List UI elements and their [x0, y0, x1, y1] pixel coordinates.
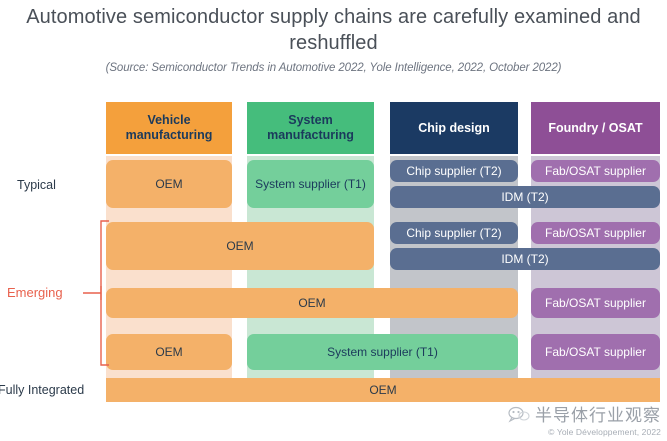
block-chip-supplier-emerging-1: Chip supplier (T2)	[390, 222, 518, 244]
block-label: OEM	[369, 383, 396, 397]
block-label: Chip supplier (T2)	[406, 226, 501, 240]
block-oem-typical: OEM	[106, 160, 232, 208]
watermark-row: 半导体行业观察	[508, 401, 661, 426]
block-label: OEM	[298, 296, 325, 310]
block-fab-osat-supplier-emerging-1: Fab/OSAT supplier	[531, 222, 660, 244]
chat-bubble-icon	[508, 405, 530, 423]
block-chip-supplier-typical: Chip supplier (T2)	[390, 160, 518, 182]
column-header-foundry-osat: Foundry / OSAT	[531, 102, 660, 154]
block-fab-osat-supplier-emerging-2: Fab/OSAT supplier	[531, 288, 660, 318]
emerging-bracket-icon	[75, 218, 120, 368]
watermark: 半导体行业观察 © Yole Développement, 2022	[508, 401, 661, 437]
row-label-emerging: Emerging	[7, 285, 63, 300]
block-label: OEM	[155, 345, 182, 359]
block-label: Fab/OSAT supplier	[545, 164, 646, 178]
column-header-label: Vehicle manufacturing	[106, 113, 232, 143]
block-oem-emerging-3: OEM	[106, 334, 232, 370]
block-fab-osat-supplier-typical: Fab/OSAT supplier	[531, 160, 660, 182]
block-idm-emerging-1: IDM (T2)	[390, 248, 660, 270]
block-oem-fully-integrated: OEM	[106, 378, 660, 402]
block-label: IDM (T2)	[501, 252, 548, 266]
block-oem-emerging-1: OEM	[106, 222, 374, 270]
block-label: IDM (T2)	[501, 190, 548, 204]
copyright-text: © Yole Développement, 2022	[508, 427, 661, 437]
block-oem-emerging-2: OEM	[106, 288, 518, 318]
block-system-supplier-emerging-3: System supplier (T1)	[247, 334, 518, 370]
block-label: OEM	[155, 177, 182, 191]
block-label: Fab/OSAT supplier	[545, 345, 646, 359]
block-fab-osat-supplier-emerging-3: Fab/OSAT supplier	[531, 334, 660, 370]
block-label: System supplier (T1)	[327, 345, 438, 359]
block-label: System supplier (T1)	[255, 177, 366, 191]
row-label-typical: Typical	[17, 178, 56, 192]
block-label: Fab/OSAT supplier	[545, 226, 646, 240]
block-label: Fab/OSAT supplier	[545, 296, 646, 310]
column-header-vehicle-manufacturing: Vehicle manufacturing	[106, 102, 232, 154]
column-header-chip-design: Chip design	[390, 102, 518, 154]
block-label: OEM	[226, 239, 253, 253]
column-header-system-manufacturing: System manufacturing	[247, 102, 374, 154]
block-system-supplier-typical: System supplier (T1)	[247, 160, 374, 208]
block-idm-typical: IDM (T2)	[390, 186, 660, 208]
row-label-fully-integrated: Fully Integrated	[0, 383, 84, 397]
watermark-text: 半导体行业观察	[535, 401, 661, 426]
column-header-label: Foundry / OSAT	[548, 121, 642, 136]
block-label: Chip supplier (T2)	[406, 164, 501, 178]
column-header-label: System manufacturing	[247, 113, 374, 143]
supply-chain-diagram: Vehicle manufacturing System manufacturi…	[0, 0, 667, 441]
column-header-label: Chip design	[418, 121, 490, 136]
